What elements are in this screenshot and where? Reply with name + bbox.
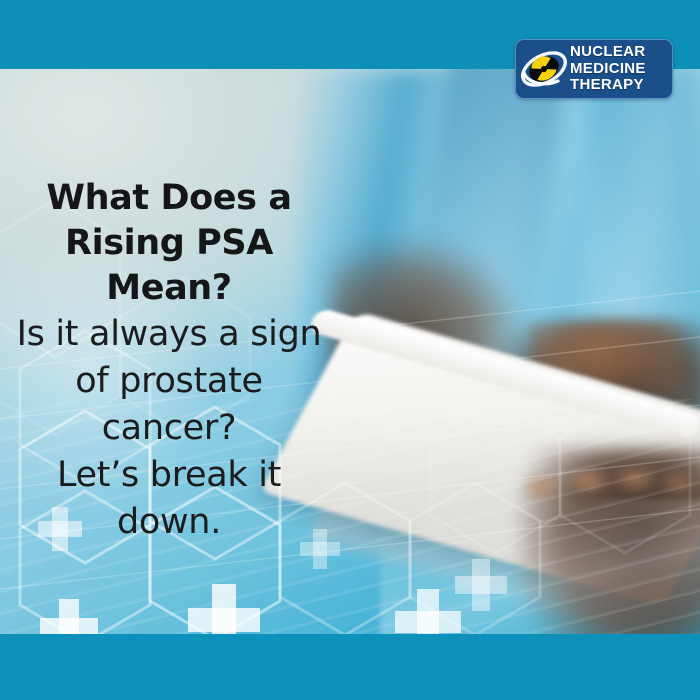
subheadline: Is it always a sign of prostate cancer? … [16, 311, 322, 546]
headline: What Does a Rising PSA Mean? [16, 176, 322, 311]
medical-cross-icon [395, 589, 461, 634]
brand-logo[interactable]: NUCLEAR MEDICINE THERAPY [515, 39, 673, 99]
social-post-card: NUCLEAR MEDICINE THERAPY What Does a Ris… [0, 0, 700, 700]
medical-cross-icon [188, 584, 260, 634]
logo-line-1: NUCLEAR [570, 44, 665, 61]
medical-cross-icon [455, 559, 507, 611]
brand-logo-text: NUCLEAR MEDICINE THERAPY [570, 44, 672, 94]
subheadline-line-1: Is it always a sign [16, 311, 322, 358]
medical-cross-icon [40, 599, 98, 634]
subheadline-line-5: down. [16, 499, 322, 546]
subheadline-line-2: of prostate [16, 358, 322, 405]
radiation-trefoil-icon [518, 43, 570, 95]
logo-line-3: THERAPY [570, 77, 665, 94]
subheadline-line-3: cancer? [16, 405, 322, 452]
headline-line-3: Mean? [16, 266, 322, 311]
headline-line-1: What Does a [16, 176, 322, 221]
logo-line-2: MEDICINE [570, 61, 665, 78]
fingers [520, 454, 700, 514]
subheadline-line-4: Let’s break it [16, 452, 322, 499]
poster-copy: What Does a Rising PSA Mean? Is it alway… [16, 176, 322, 546]
headline-line-2: Rising PSA [16, 221, 322, 266]
bottom-color-band [0, 634, 700, 700]
